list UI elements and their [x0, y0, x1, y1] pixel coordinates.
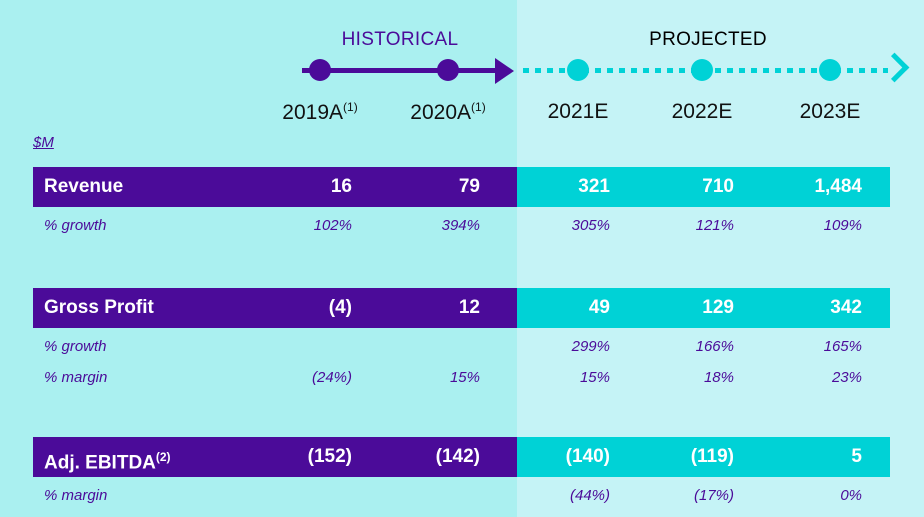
timeline-dot-2019a — [309, 59, 331, 81]
year-footnote-marker: (1) — [471, 100, 486, 114]
timeline-dot-2020a — [437, 59, 459, 81]
historical-timeline-line — [302, 68, 502, 73]
metric-row-gross-profit: Gross Profit(4)1249129342 — [33, 288, 890, 328]
projected-timeline-arrow-icon — [880, 53, 910, 83]
historical-timeline-arrow-icon — [495, 58, 514, 84]
metric-row-revenue: Revenue16793217101,484 — [33, 167, 890, 207]
subrow-value-cell: 23% — [33, 365, 862, 391]
metric-value-cell: 342 — [33, 288, 862, 328]
metric-value-cell: 1,484 — [33, 167, 862, 207]
metric-subrow: % margin(24%)15%15%18%23% — [33, 365, 890, 391]
timeline-dot-2023e — [819, 59, 841, 81]
metric-subrow: % growth299%166%165% — [33, 334, 890, 360]
units-label: $M — [33, 134, 54, 151]
historical-segment-label: HISTORICAL — [300, 29, 500, 51]
year-footnote-marker: (1) — [343, 100, 358, 114]
metric-subrow: % margin(44%)(17%)0% — [33, 483, 890, 509]
timeline-dot-2021e — [567, 59, 589, 81]
projected-segment-label: PROJECTED — [608, 29, 808, 51]
year-label-2023e: 2023E — [750, 100, 910, 124]
metric-subrow: % growth102%394%305%121%109% — [33, 213, 890, 239]
timeline-dot-2022e — [691, 59, 713, 81]
subrow-value-cell: 165% — [33, 334, 862, 360]
metric-row-adj-ebitda: Adj. EBITDA(2)(152)(142)(140)(119)5 — [33, 437, 890, 477]
metric-value-cell: 5 — [33, 437, 862, 477]
subrow-value-cell: 109% — [33, 213, 862, 239]
subrow-value-cell: 0% — [33, 483, 862, 509]
